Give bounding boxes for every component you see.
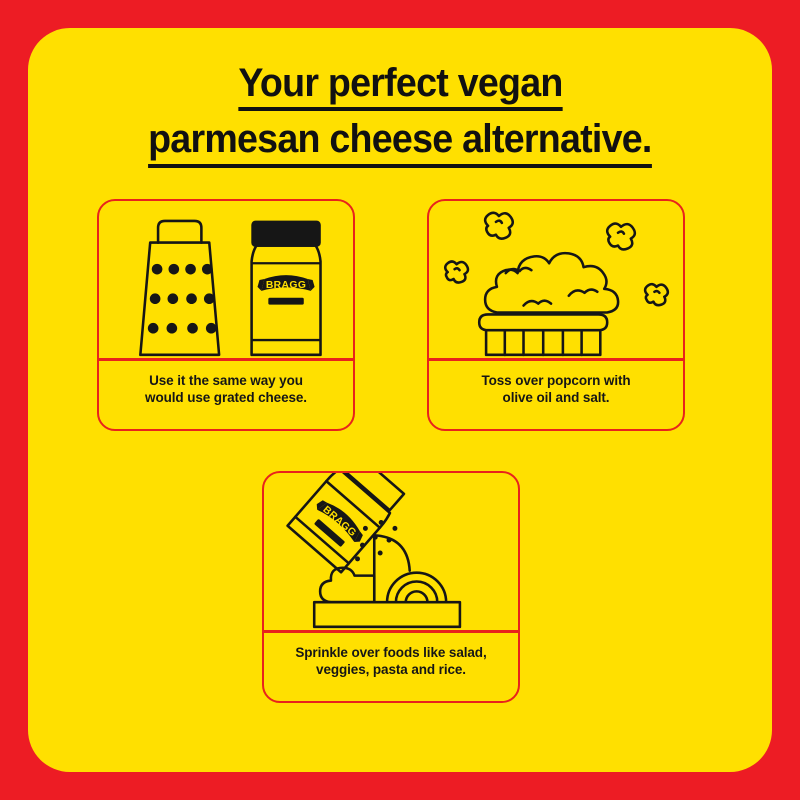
- bragg-jar-icon: BRAGG: [252, 222, 321, 355]
- shaker-banner-icon: BRAGG: [314, 495, 367, 544]
- bucket-stripes-icon: [505, 331, 582, 355]
- poster-canvas: Your perfect vegan parmesan cheese alter…: [0, 0, 800, 800]
- caption-line-1: Use it the same way you: [111, 372, 341, 390]
- salad-cloud-icon: [320, 568, 374, 602]
- grater-handle-icon: [158, 221, 201, 243]
- jar-brand-label: BRAGG: [266, 280, 306, 291]
- yellow-panel: Your perfect vegan parmesan cheese alter…: [28, 28, 772, 772]
- popcorn-kernel-icon-2: [607, 224, 635, 250]
- caption-line-1: Sprinkle over foods like salad,: [276, 644, 506, 662]
- jar-label-bar-icon: [268, 298, 303, 305]
- card-caption: Toss over popcorn with olive oil and sal…: [429, 361, 683, 408]
- caption-line-2: veggies, pasta and rice.: [276, 661, 506, 679]
- popcorn-kernel-icon-3: [445, 262, 468, 283]
- headline-line-1-row: Your perfect vegan: [28, 60, 772, 111]
- plate-base-icon: [314, 602, 460, 627]
- shaker-over-plate-illustration: BRAGG: [264, 473, 518, 630]
- caption-line-1: Toss over popcorn with: [441, 372, 671, 390]
- grater-holes-icon: [148, 264, 217, 334]
- grater-and-jar-illustration: BRAGG: [99, 201, 353, 358]
- usage-card-sprinkle-plate[interactable]: BRAGG: [262, 471, 520, 703]
- caption-line-2: would use grated cheese.: [111, 389, 341, 407]
- bragg-shaker-icon: BRAGG: [288, 473, 407, 572]
- popcorn-kernel-icon-4: [645, 284, 668, 305]
- headline-line-2: parmesan cheese alternative.: [148, 116, 652, 167]
- bucket-rim-icon: [479, 314, 607, 330]
- caption-line-2: olive oil and salt.: [441, 389, 671, 407]
- usage-card-grater-and-jar[interactable]: BRAGG Use it the same way you would use …: [97, 199, 355, 431]
- pasta-swirl-icon: [387, 573, 446, 603]
- card-caption: Sprinkle over foods like salad, veggies,…: [264, 633, 518, 680]
- headline-line-1: Your perfect vegan: [238, 60, 562, 111]
- headline-line-2-row: parmesan cheese alternative.: [28, 116, 772, 167]
- popcorn-kernel-icon-1: [485, 213, 513, 239]
- popcorn-bucket-illustration: [429, 201, 683, 358]
- page-title: Your perfect vegan parmesan cheese alter…: [28, 60, 772, 173]
- card-caption: Use it the same way you would use grated…: [99, 361, 353, 408]
- usage-card-popcorn[interactable]: Toss over popcorn with olive oil and sal…: [427, 199, 685, 431]
- bragg-banner-icon: BRAGG: [258, 275, 315, 291]
